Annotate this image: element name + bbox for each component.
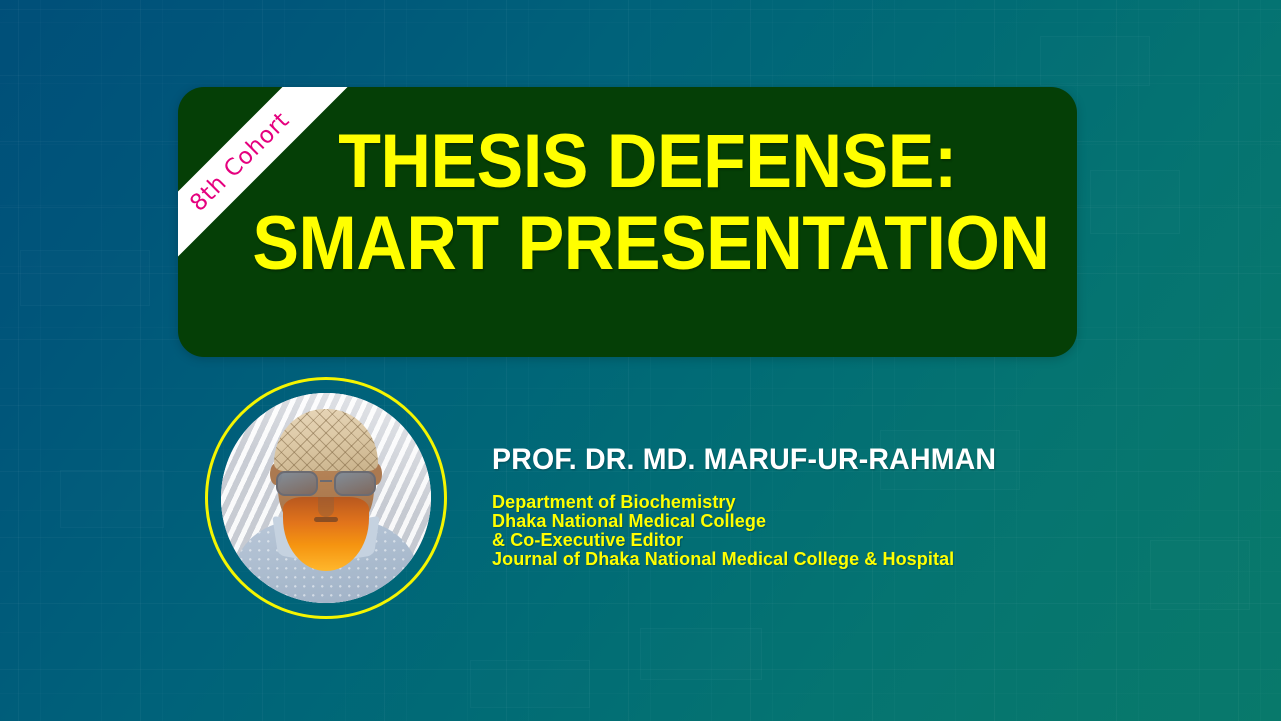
person-mouth: [314, 517, 338, 522]
glasses-lens-left: [276, 471, 318, 496]
affiliation-line: Dhaka National Medical College: [492, 512, 1112, 531]
avatar-photo: [221, 393, 431, 603]
affiliation-line: Department of Biochemistry: [492, 493, 1112, 512]
person-nose: [318, 497, 334, 517]
glasses-bridge: [320, 480, 332, 482]
title-line-secondary: SMART PRESENTATION: [252, 208, 1042, 280]
presentation-slide: 8th Cohort THESIS DEFENSE: SMART PRESENT…: [0, 0, 1281, 721]
title-card: 8th Cohort THESIS DEFENSE: SMART PRESENT…: [178, 87, 1077, 357]
affiliation-line: & Co-Executive Editor: [492, 531, 1112, 550]
page-title: THESIS DEFENSE: SMART PRESENTATION: [178, 126, 1077, 280]
affiliation-line: Journal of Dhaka National Medical Colleg…: [492, 550, 1112, 569]
speaker-details: PROF. DR. MD. MARUF-UR-RAHMAN Department…: [492, 443, 1112, 569]
title-line-primary: THESIS DEFENSE:: [252, 126, 1042, 198]
glasses-lens-right: [334, 471, 376, 496]
speaker-avatar: [205, 377, 447, 619]
speaker-affiliation: Department of Biochemistry Dhaka Nationa…: [492, 493, 1112, 569]
person-glasses: [274, 471, 378, 497]
speaker-name: PROF. DR. MD. MARUF-UR-RAHMAN: [492, 443, 1081, 477]
